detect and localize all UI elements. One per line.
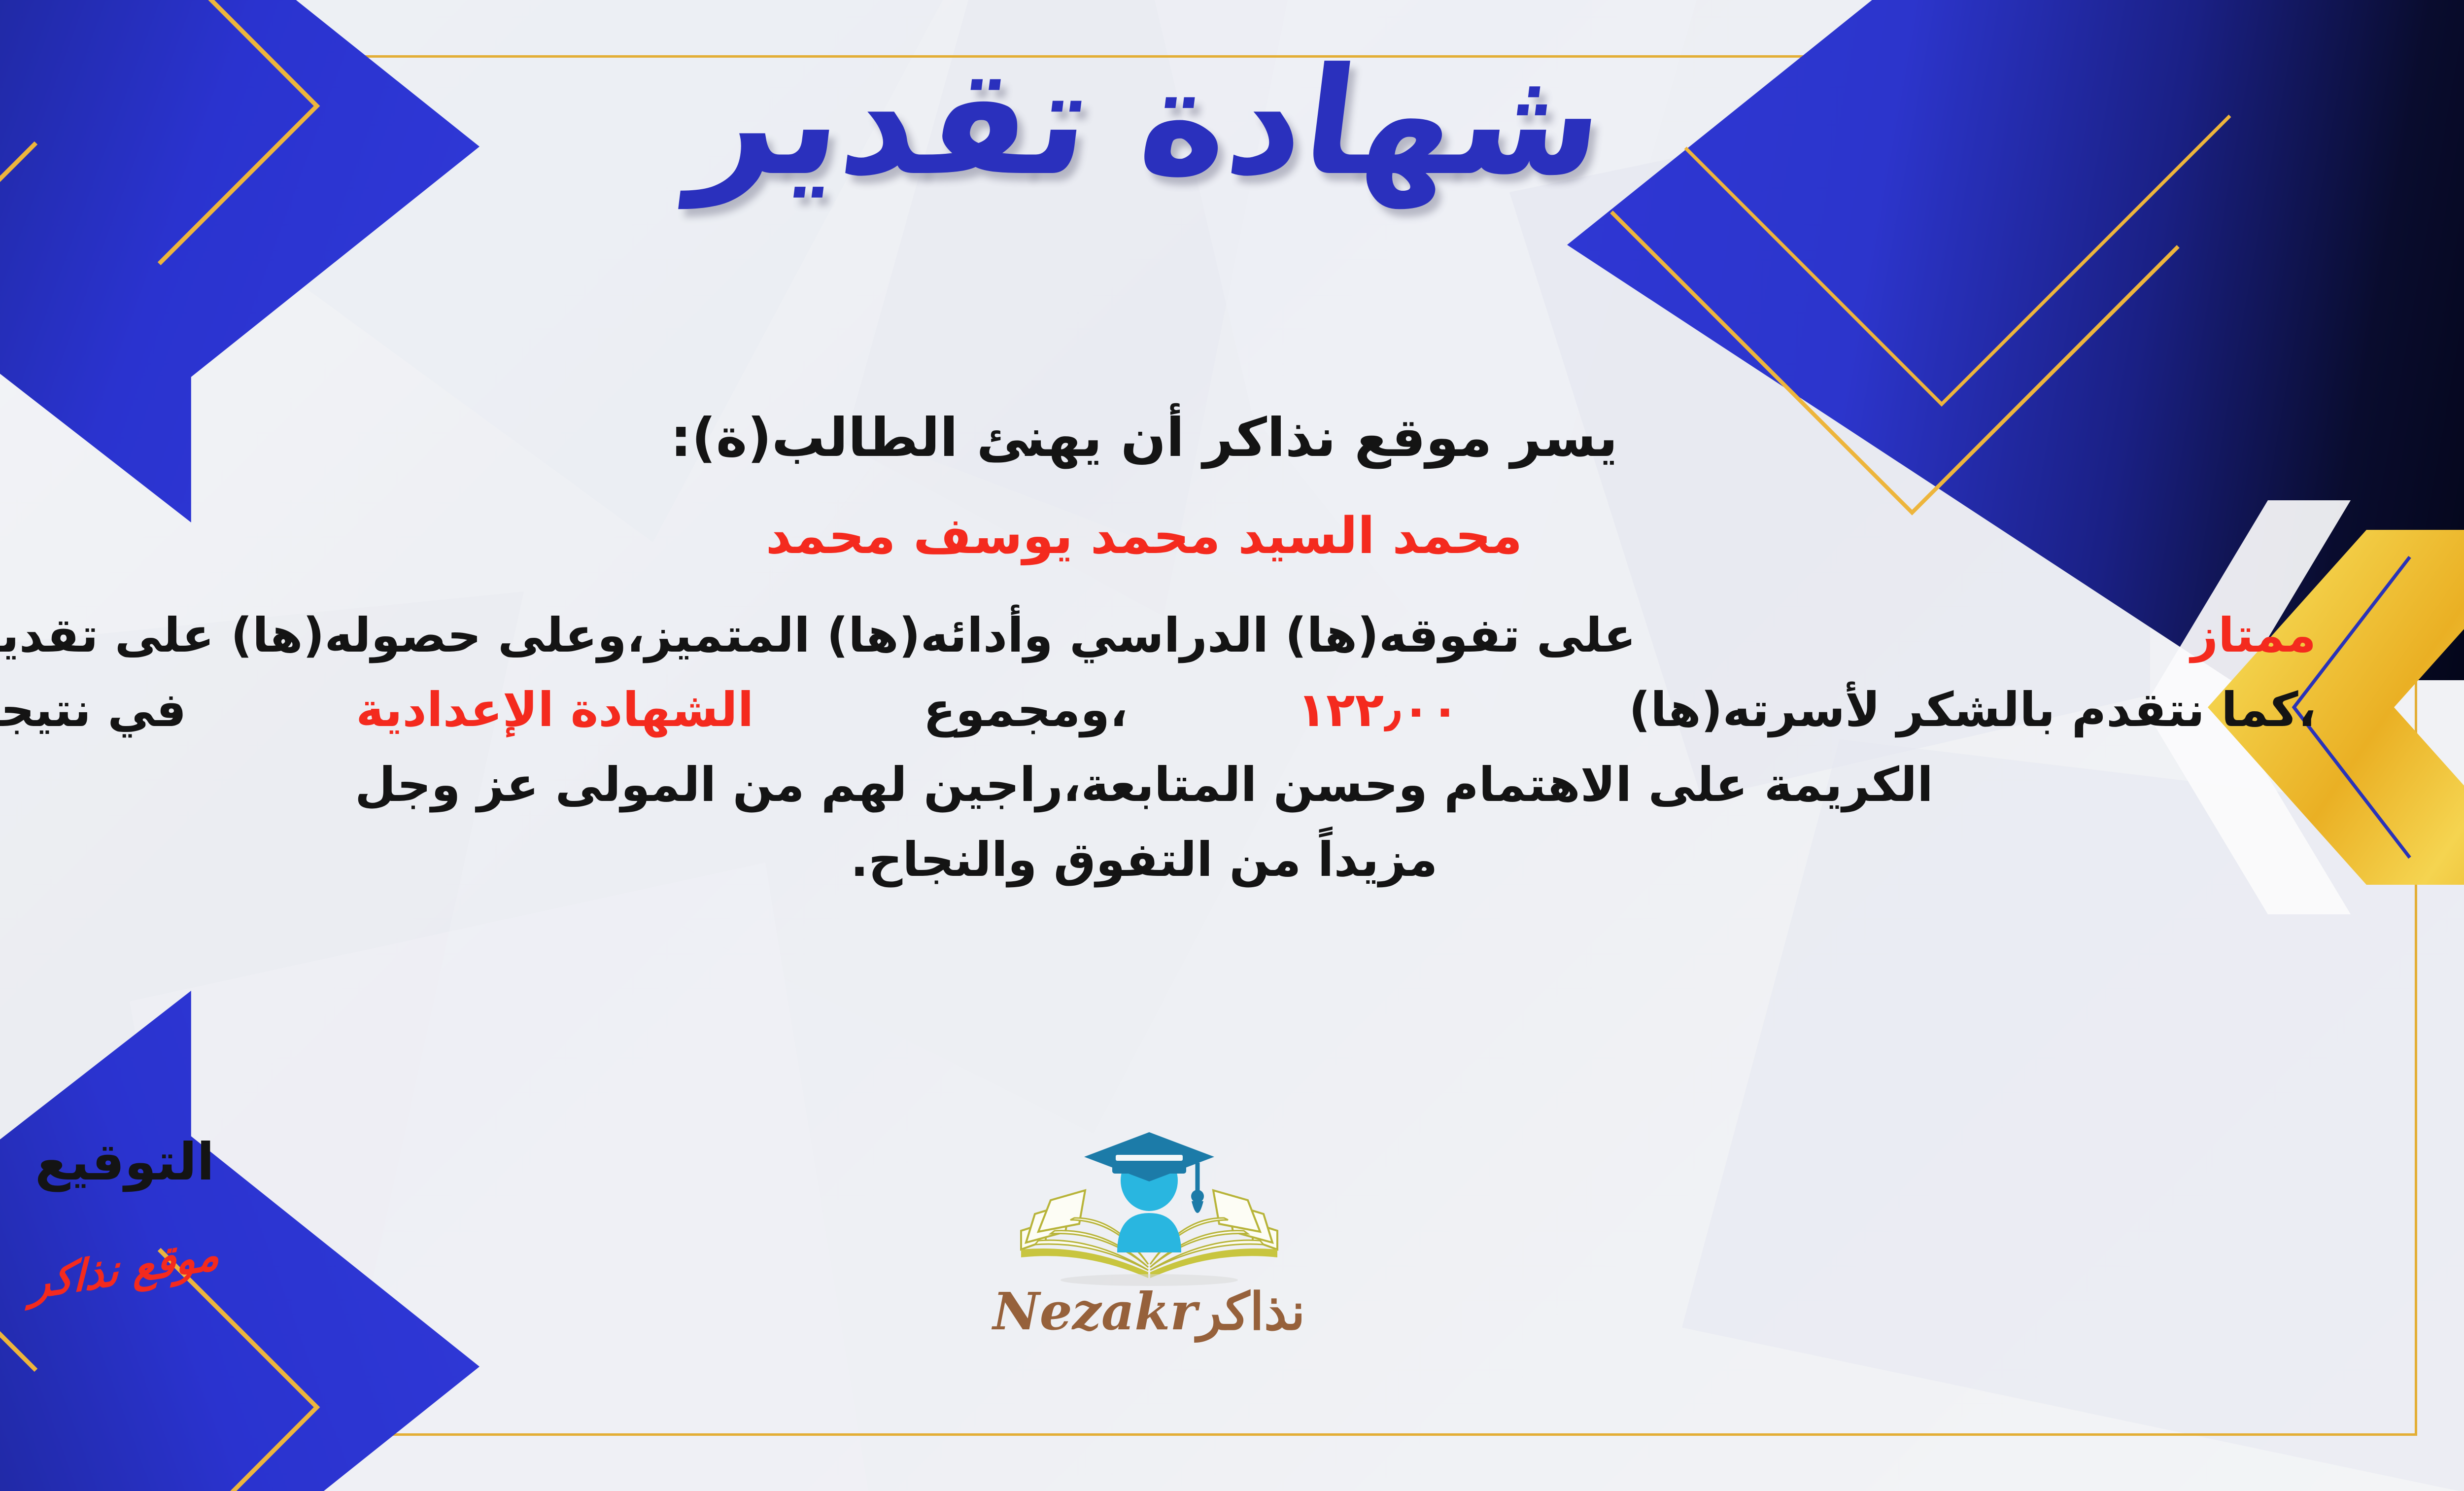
citation-paragraph: ممتاز على تفوقه(ها) الدراسي وأدائه(ها) ا…: [0, 598, 2316, 898]
citation-line-4: مزيداً من التفوق والنجاح.: [0, 823, 2316, 898]
signature-label: التوقيع: [0, 1134, 297, 1190]
brand-logo-wordmark: نذاكرNezakr: [967, 1286, 1332, 1337]
exam-name: الشهادة الإعدادية: [356, 673, 753, 748]
greeting-line: يسر موقع نذاكر أن يهنئ الطالب(ة):: [0, 404, 2316, 472]
certificate-body: يسر موقع نذاكر أن يهنئ الطالب(ة): محمد ا…: [0, 404, 2316, 897]
grade-value: ممتاز: [2191, 598, 2316, 673]
total-score-value: ١٢٢٫٠٠: [1297, 673, 1459, 748]
brand-logo: نذاكرNezakr: [967, 1126, 1332, 1337]
certificate-title: شهادة تقدير: [0, 30, 2464, 214]
certificate: شهادة تقدير يسر موقع نذاكر أن يهنئ الطال…: [0, 0, 2464, 1491]
total-label: ،ومجموع: [924, 673, 1128, 748]
signature-block: التوقيع موقع نذاكر: [0, 1134, 297, 1294]
result-prefix: في نتيجة: [0, 673, 186, 748]
student-name: محمد السيد محمد يوسف محمد: [0, 505, 2316, 568]
graduate-book-logo-icon: [1011, 1126, 1287, 1289]
signature-mark: موقع نذاكر: [30, 1229, 220, 1309]
thanks-suffix: ،كما نتقدم بالشكر لأسرته(ها): [1629, 673, 2316, 748]
brand-name-arabic: نذاكر: [1197, 1281, 1305, 1342]
brand-name-latin: Nezakr: [993, 1281, 1198, 1342]
certificate-content: شهادة تقدير يسر موقع نذاكر أن يهنئ الطال…: [0, 0, 2464, 1491]
citation-line-3: الكريمة على الاهتمام وحسن المتابعة،راجين…: [0, 748, 2316, 823]
citation-line-2: ،كما نتقدم بالشكر لأسرته(ها) ١٢٢٫٠٠ ،ومج…: [0, 673, 2316, 748]
citation-line-1: ممتاز على تفوقه(ها) الدراسي وأدائه(ها) ا…: [0, 598, 2316, 673]
citation-line-1-text: على تفوقه(ها) الدراسي وأدائه(ها) المتميز…: [0, 598, 1636, 673]
